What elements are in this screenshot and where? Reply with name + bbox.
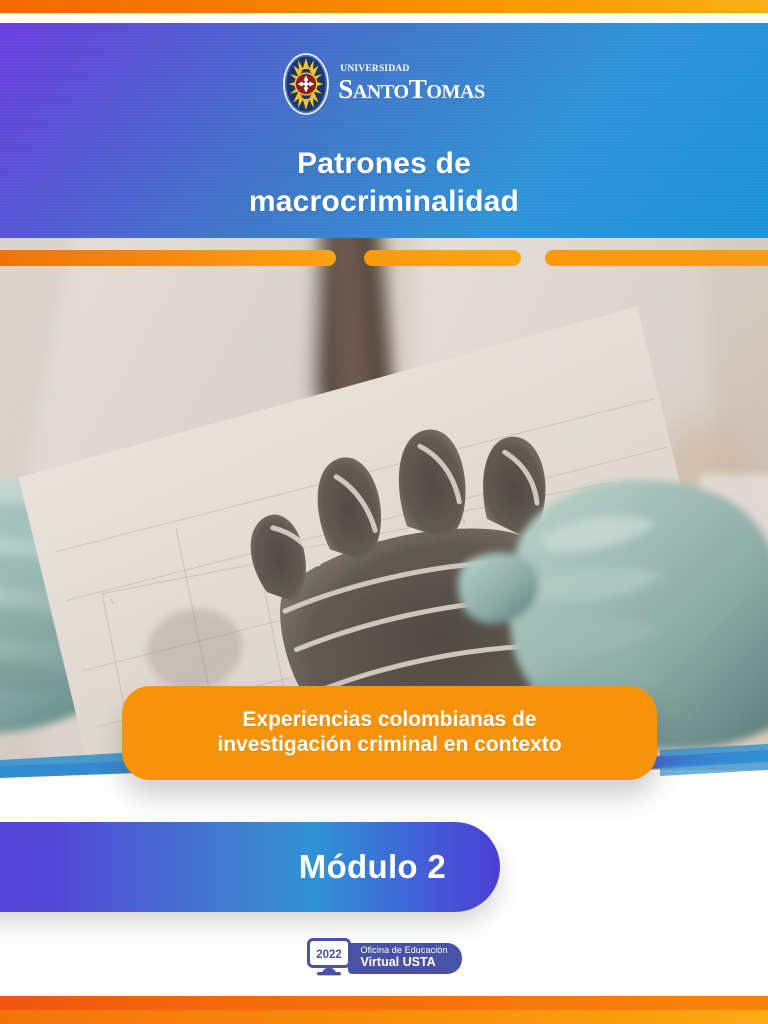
header-banner: UNIVERSIDAD SANTOTOMAS Patrones de macro… — [0, 23, 768, 238]
page-title-line2: macrocriminalidad — [0, 183, 768, 221]
page-title: Patrones de macrocriminalidad — [0, 145, 768, 220]
subtitle-text: Experiencias colombianas de investigació… — [203, 708, 575, 758]
subtitle-banner: Experiencias colombianas de investigació… — [122, 686, 657, 780]
orange-bottom-rule-1 — [0, 996, 768, 1010]
subtitle-line1: Experiencias colombianas de — [217, 708, 561, 733]
page-title-line1: Patrones de — [0, 145, 768, 183]
footer-logo: 2022 Oficina de Educación Virtual USTA — [0, 934, 768, 982]
module-label: Módulo 2 — [299, 848, 500, 886]
virtual-education-office-badge: Oficina de Educación Virtual USTA — [348, 943, 461, 974]
office-line-2: Virtual USTA — [360, 956, 447, 970]
footer-year-text: 2022 — [317, 949, 343, 961]
wordmark-santo-tomas: SANTOTOMAS — [338, 76, 484, 103]
orange-top-rule — [0, 0, 768, 13]
module-badge: Módulo 2 — [0, 822, 500, 912]
cover-page: UNIVERSIDAD SANTOTOMAS Patrones de macro… — [0, 0, 768, 1024]
usta-sun-emblem-icon — [283, 53, 329, 115]
university-logo: UNIVERSIDAD SANTOTOMAS — [0, 53, 768, 115]
monitor-icon: 2022 — [306, 937, 352, 979]
university-wordmark: UNIVERSIDAD SANTOTOMAS — [338, 65, 484, 103]
orange-bottom-rule-2 — [0, 1010, 768, 1024]
subtitle-line2: investigación criminal en contexto — [217, 733, 561, 758]
